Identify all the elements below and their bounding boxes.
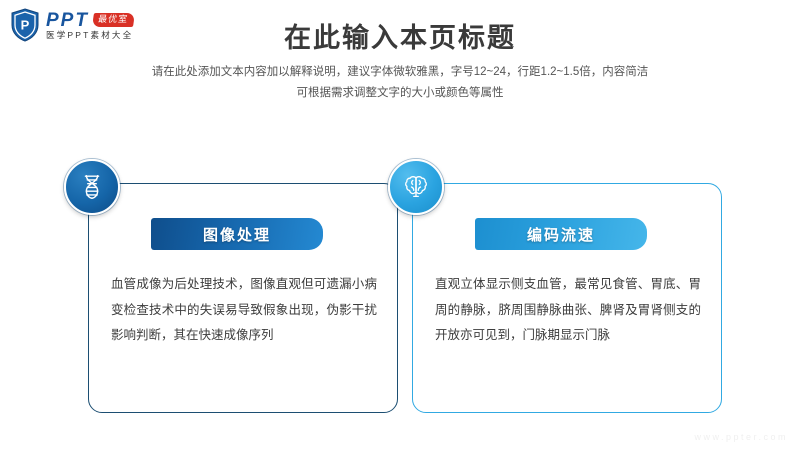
content-card-right[interactable]: 编码流速 直观立体显示侧支血管，最常见食管、胃底、胃周的静脉，脐周围静脉曲张、脾… bbox=[412, 183, 722, 413]
page-subtitle-line-2: 可根据需求调整文字的大小或颜色等属性 bbox=[0, 83, 800, 104]
page-subtitle-line-1: 请在此处添加文本内容加以解释说明，建议字体微软雅黑，字号12~24，行距1.2~… bbox=[0, 62, 800, 83]
dna-helix-icon bbox=[64, 159, 120, 215]
card-body-right: 直观立体显示侧支血管，最常见食管、胃底、胃周的静脉，脐周围静脉曲张、脾肾及胃肾侧… bbox=[435, 272, 701, 349]
card-title-ribbon-left: 图像处理 bbox=[151, 218, 323, 250]
card-title-ribbon-right: 编码流速 bbox=[475, 218, 647, 250]
page-title: 在此输入本页标题 bbox=[0, 16, 800, 55]
page-subtitle: 请在此处添加文本内容加以解释说明，建议字体微软雅黑，字号12~24，行距1.2~… bbox=[0, 62, 800, 105]
slide-canvas: P PPT 最优室 医学PPT素材大全 在此输入本页标题 请在此处添加文本内容加… bbox=[0, 0, 800, 450]
card-body-left: 血管成像为后处理技术，图像直观但可遗漏小病变检查技术中的失误易导致假象出现，伪影… bbox=[111, 272, 377, 349]
site-watermark: www.ppter.com bbox=[694, 432, 788, 442]
content-card-left[interactable]: 图像处理 血管成像为后处理技术，图像直观但可遗漏小病变检查技术中的失误易导致假象… bbox=[88, 183, 398, 413]
brain-icon bbox=[388, 159, 444, 215]
